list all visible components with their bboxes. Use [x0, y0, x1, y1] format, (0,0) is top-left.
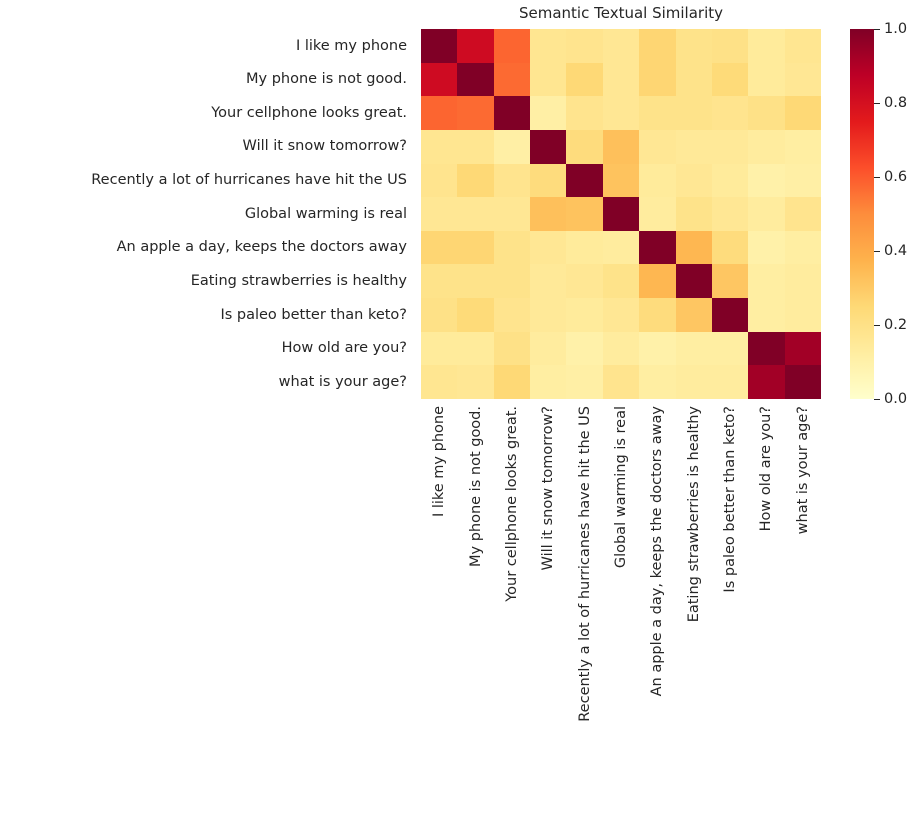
heatmap-cell [457, 365, 493, 399]
heatmap-cell [785, 365, 821, 399]
heatmap-cell [421, 332, 457, 366]
heatmap-cell [457, 264, 493, 298]
heatmap-cell [494, 365, 530, 399]
heatmap-cell [494, 63, 530, 97]
colorbar-tick-label: 0.2 [884, 318, 907, 333]
heatmap-cell [457, 29, 493, 63]
heatmap-cell [566, 231, 602, 265]
heatmap-cell [421, 164, 457, 198]
x-tick-label-slot: Your cellphone looks great. [494, 399, 530, 819]
heatmap-cell [566, 164, 602, 198]
heatmap-cell [421, 96, 457, 130]
heatmap-cell [785, 63, 821, 97]
x-tick-label-slot: How old are you? [748, 399, 784, 819]
heatmap-cell [712, 96, 748, 130]
heatmap-cell [712, 332, 748, 366]
y-tick-label: Will it snow tomorrow? [0, 130, 414, 164]
x-tick-label: Global warming is real [614, 406, 629, 568]
x-tick-label-slot: An apple a day, keeps the doctors away [639, 399, 675, 819]
heatmap-cell [494, 264, 530, 298]
heatmap-cell [494, 197, 530, 231]
heatmap-cell [566, 332, 602, 366]
heatmap-cell [457, 197, 493, 231]
heatmap-cell [421, 130, 457, 164]
heatmap-cell [748, 264, 784, 298]
heatmap-cell [603, 332, 639, 366]
heatmap-cell [566, 298, 602, 332]
x-tick-label-slot: Will it snow tomorrow? [530, 399, 566, 819]
heatmap-cell [639, 164, 675, 198]
colorbar-tick-label: 0.0 [884, 392, 907, 407]
colorbar-tick [874, 29, 880, 30]
heatmap-cell [712, 197, 748, 231]
heatmap-cell [748, 164, 784, 198]
heatmap-cell [748, 332, 784, 366]
heatmap-cell [421, 231, 457, 265]
y-tick-label: I like my phone [0, 29, 414, 63]
heatmap-cell [421, 365, 457, 399]
heatmap-cell [785, 298, 821, 332]
heatmap-cell [639, 130, 675, 164]
colorbar-tick-label: 0.6 [884, 170, 907, 185]
heatmap-grid [421, 29, 821, 399]
heatmap-cell [457, 298, 493, 332]
heatmap-cell [748, 130, 784, 164]
x-tick-label: Is paleo better than keto? [723, 406, 738, 593]
heatmap-cell [530, 264, 566, 298]
heatmap-cell [639, 365, 675, 399]
x-tick-label-slot: Eating strawberries is healthy [676, 399, 712, 819]
heatmap-cell [566, 63, 602, 97]
heatmap-cell [457, 164, 493, 198]
heatmap-cell [748, 298, 784, 332]
heatmap-cell [421, 298, 457, 332]
heatmap-cell [639, 96, 675, 130]
heatmap-cell [785, 29, 821, 63]
colorbar: 1.00.80.60.40.20.0 [850, 29, 874, 399]
heatmap-cell [639, 63, 675, 97]
x-tick-label: An apple a day, keeps the doctors away [650, 406, 665, 696]
heatmap-cell [530, 197, 566, 231]
heatmap-cell [676, 130, 712, 164]
heatmap-cell [676, 197, 712, 231]
heatmap-cell [785, 197, 821, 231]
heatmap-cell [566, 365, 602, 399]
heatmap-cell [494, 130, 530, 164]
heatmap-cell [748, 197, 784, 231]
x-tick-label: Will it snow tomorrow? [541, 406, 556, 570]
colorbar-tick [874, 103, 880, 104]
heatmap-cell [712, 130, 748, 164]
heatmap-cell [494, 164, 530, 198]
heatmap-cell [530, 231, 566, 265]
x-tick-label-slot: Recently a lot of hurricanes have hit th… [566, 399, 602, 819]
x-tick-label: How old are you? [759, 406, 774, 531]
x-tick-label-slot: I like my phone [421, 399, 457, 819]
heatmap-cell [748, 63, 784, 97]
heatmap-cell [712, 298, 748, 332]
x-axis-tick-labels: I like my phoneMy phone is not good.Your… [421, 399, 821, 819]
heatmap-cell [603, 164, 639, 198]
heatmap-cell [603, 298, 639, 332]
heatmap-cell [494, 96, 530, 130]
heatmap-cell [603, 63, 639, 97]
heatmap-cell [748, 365, 784, 399]
heatmap-cell [712, 29, 748, 63]
heatmap-cell [603, 96, 639, 130]
heatmap-cell [457, 332, 493, 366]
heatmap-cell [785, 164, 821, 198]
heatmap-cell [676, 96, 712, 130]
y-tick-label: Is paleo better than keto? [0, 298, 414, 332]
heatmap-cell [639, 264, 675, 298]
heatmap-cell [676, 332, 712, 366]
heatmap-cell [676, 264, 712, 298]
x-tick-label: I like my phone [432, 406, 447, 517]
heatmap-cell [712, 63, 748, 97]
heatmap-cell [712, 365, 748, 399]
x-tick-label: My phone is not good. [468, 406, 483, 567]
heatmap-cell [639, 29, 675, 63]
heatmap-cell [494, 332, 530, 366]
colorbar-tick-label: 1.0 [884, 22, 907, 37]
heatmap-cell [494, 29, 530, 63]
heatmap-cell [676, 231, 712, 265]
y-tick-label: An apple a day, keeps the doctors away [0, 231, 414, 265]
x-tick-label: Your cellphone looks great. [505, 406, 520, 602]
heatmap-cell [712, 231, 748, 265]
heatmap-cell [457, 231, 493, 265]
x-tick-label: Eating strawberries is healthy [686, 406, 701, 622]
heatmap-cell [530, 29, 566, 63]
heatmap-cell [603, 197, 639, 231]
heatmap-cell [457, 96, 493, 130]
y-tick-label: what is your age? [0, 365, 414, 399]
heatmap-cell [603, 130, 639, 164]
y-tick-label: Eating strawberries is healthy [0, 264, 414, 298]
heatmap-cell [566, 197, 602, 231]
page-title: Semantic Textual Similarity [421, 4, 821, 22]
colorbar-tick [874, 177, 880, 178]
heatmap-cell [530, 332, 566, 366]
x-tick-label-slot: Is paleo better than keto? [712, 399, 748, 819]
x-tick-label: Recently a lot of hurricanes have hit th… [577, 406, 592, 722]
heatmap-cell [785, 96, 821, 130]
y-tick-label: How old are you? [0, 332, 414, 366]
y-tick-label: Your cellphone looks great. [0, 96, 414, 130]
y-tick-label: Recently a lot of hurricanes have hit th… [0, 164, 414, 198]
heatmap-cell [421, 29, 457, 63]
heatmap-cell [603, 231, 639, 265]
heatmap-cell [566, 264, 602, 298]
colorbar-gradient [850, 29, 874, 399]
heatmap-cell [530, 298, 566, 332]
heatmap-cell [603, 264, 639, 298]
semantic-similarity-heatmap-figure: Semantic Textual Similarity I like my ph… [0, 0, 915, 826]
colorbar-tick-label: 0.4 [884, 244, 907, 259]
colorbar-tick [874, 325, 880, 326]
heatmap-cell [566, 29, 602, 63]
heatmap-cell [530, 96, 566, 130]
heatmap-cell [566, 130, 602, 164]
heatmap-cell [676, 365, 712, 399]
heatmap-cell [748, 96, 784, 130]
heatmap-cell [457, 130, 493, 164]
heatmap-cell [530, 164, 566, 198]
heatmap-cell [712, 264, 748, 298]
heatmap-cell [676, 29, 712, 63]
heatmap-cell [676, 298, 712, 332]
heatmap-cell [494, 231, 530, 265]
heatmap-cell [530, 365, 566, 399]
heatmap-cell [676, 164, 712, 198]
heatmap-cell [494, 298, 530, 332]
x-tick-label-slot: My phone is not good. [457, 399, 493, 819]
y-tick-label: Global warming is real [0, 197, 414, 231]
heatmap-cell [785, 231, 821, 265]
heatmap-cell [785, 264, 821, 298]
heatmap-cell [566, 96, 602, 130]
x-tick-label: what is your age? [796, 406, 811, 534]
heatmap-cell [639, 298, 675, 332]
heatmap-cell [421, 264, 457, 298]
heatmap-cell [785, 332, 821, 366]
x-tick-label-slot: Global warming is real [603, 399, 639, 819]
heatmap-cell [639, 332, 675, 366]
y-tick-label: My phone is not good. [0, 63, 414, 97]
heatmap-cell [530, 130, 566, 164]
y-axis-tick-labels: I like my phoneMy phone is not good.Your… [0, 29, 414, 399]
heatmap-cell [603, 29, 639, 63]
colorbar-tick [874, 399, 880, 400]
heatmap-cell [639, 231, 675, 265]
heatmap-cell [421, 63, 457, 97]
heatmap-cell [748, 29, 784, 63]
heatmap-cell [639, 197, 675, 231]
x-tick-label-slot: what is your age? [785, 399, 821, 819]
colorbar-tick-label: 0.8 [884, 96, 907, 111]
heatmap-cell [457, 63, 493, 97]
heatmap-cell [530, 63, 566, 97]
colorbar-tick [874, 251, 880, 252]
heatmap-cell [712, 164, 748, 198]
heatmap-cell [603, 365, 639, 399]
heatmap-cell [421, 197, 457, 231]
heatmap-cell [748, 231, 784, 265]
heatmap-cell [785, 130, 821, 164]
heatmap-cell [676, 63, 712, 97]
